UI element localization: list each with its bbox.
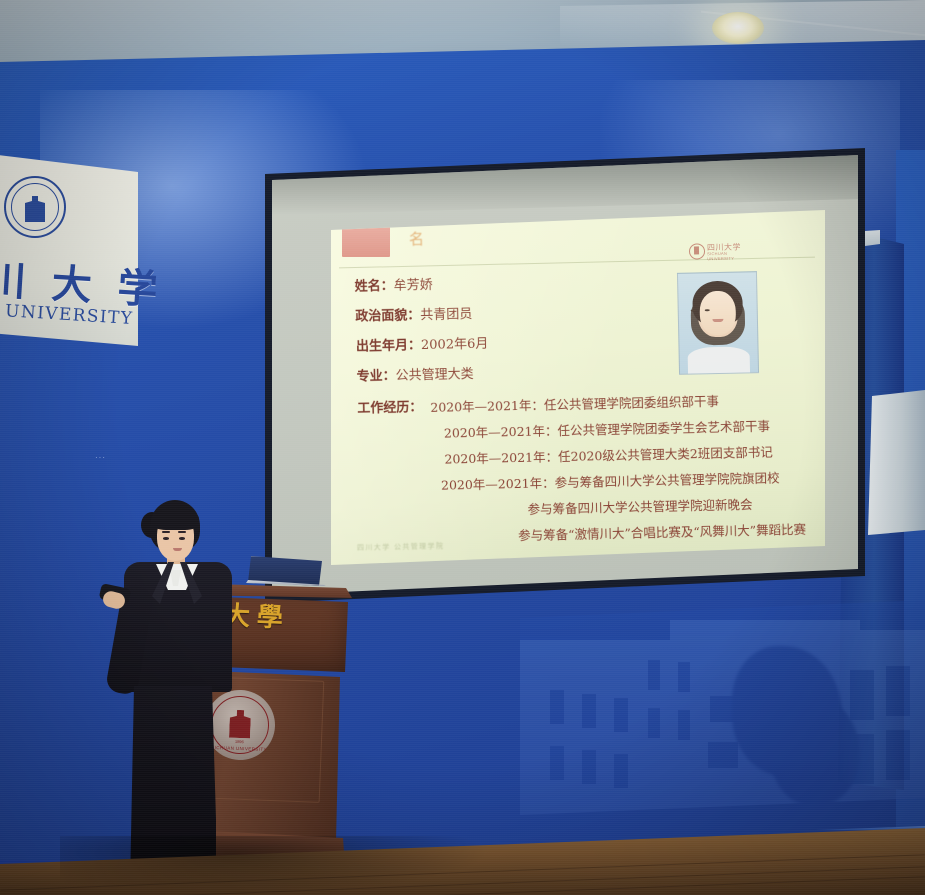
- field-key: 出生年月：: [356, 338, 421, 354]
- field-key: 专业：: [356, 369, 395, 385]
- work-entry: 2020年—2021年：任公共管理学院团委组织部干事: [430, 391, 719, 416]
- slide-footer-text: 四川大学 公共管理学院: [357, 541, 445, 553]
- slide-field-row: 姓名：牟芳娇: [354, 274, 432, 295]
- wall-small-mark: ···: [95, 453, 106, 462]
- wall-duct: [868, 390, 925, 535]
- campus-building-mural: [520, 600, 925, 815]
- podium-floor-shadow: [60, 836, 490, 894]
- slide-logo-en: SICHUAN UNIVERSITY: [707, 250, 747, 261]
- work-entry: 2020年—2021年：参与筹备四川大学公共管理学院院旗团校: [441, 467, 780, 493]
- work-entry: 参与筹备“激情川大”合唱比赛及“风舞川大”舞蹈比赛: [518, 519, 806, 544]
- field-value: 牟芳娇: [394, 278, 433, 294]
- slide-content: 姓名：牟芳娇 政治面貌：共青团员 出生年月：2002年6月 专业：公共管理大类 …: [331, 199, 833, 565]
- field-value: 公共管理大类: [395, 367, 473, 384]
- speaker-person: [96, 500, 246, 890]
- work-entry: 2020年—2021年：任2020级公共管理大类2班团支部书记: [444, 441, 773, 467]
- ceiling-light-icon: [712, 12, 764, 44]
- work-entry: 参与筹备四川大学公共管理学院迎新晚会: [527, 494, 752, 518]
- university-seal-icon: [4, 176, 66, 238]
- slide-field-row: 政治面貌：共青团员: [355, 303, 472, 325]
- field-key: 姓名：: [355, 279, 394, 295]
- work-experience-label: 工作经历：: [357, 396, 422, 416]
- field-value: 共青团员: [420, 307, 472, 323]
- slide-portrait-photo: [677, 271, 759, 375]
- slide-field-row: 专业：公共管理大类: [356, 363, 473, 385]
- field-value: 2002年6月: [421, 337, 489, 353]
- presentation-slide: 名 姓名：牟芳娇 政治面貌：共青团员 出生年月：2002年6月 专业：公共管理大…: [331, 210, 825, 565]
- auditorium-presentation-photo: 川 大 学 N UNIVERSITY ··· 名 姓名：牟芳娇 政治面貌：共青团…: [0, 0, 925, 895]
- slide-page-number: 01: [779, 526, 786, 532]
- slide-field-row: 出生年月：2002年6月: [356, 333, 489, 355]
- slide-university-logo: 四川大学 SICHUAN UNIVERSITY: [689, 241, 747, 258]
- field-key: 政治面貌：: [355, 308, 420, 324]
- work-entry: 2020年—2021年：任公共管理学院团委学生会艺术部干事: [444, 415, 770, 441]
